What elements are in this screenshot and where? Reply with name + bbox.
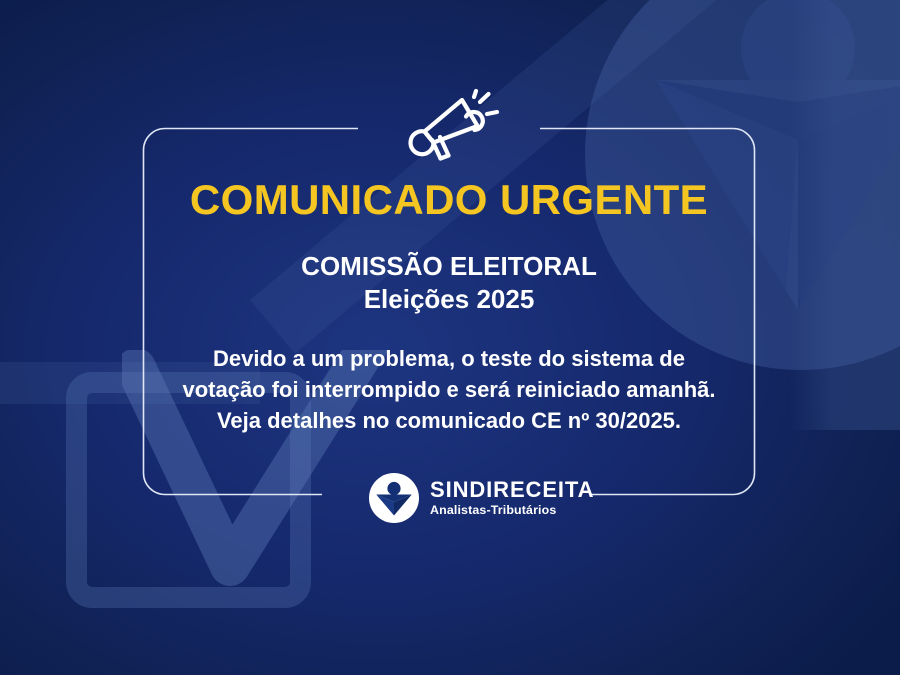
subtitle-line-2: Eleições 2025 bbox=[301, 283, 597, 316]
announcement-poster: COMUNICADO URGENTE COMISSÃO ELEITORAL El… bbox=[0, 0, 900, 675]
poster-content: COMUNICADO URGENTE COMISSÃO ELEITORAL El… bbox=[143, 128, 755, 495]
logo-name: SINDIRECEITA bbox=[430, 479, 594, 501]
sindireceita-figure-icon bbox=[369, 473, 419, 523]
subtitle-line-1: COMISSÃO ELEITORAL bbox=[301, 251, 597, 281]
logo-tagline: Analistas-Tributários bbox=[430, 504, 594, 516]
background-light-band bbox=[790, 0, 900, 430]
logo-wordmark: SINDIRECEITA Analistas-Tributários bbox=[430, 479, 594, 516]
subtitle-block: COMISSÃO ELEITORAL Eleições 2025 bbox=[301, 250, 597, 317]
page-title: COMUNICADO URGENTE bbox=[190, 178, 708, 222]
sindireceita-logo: SINDIRECEITA Analistas-Tributários bbox=[369, 473, 594, 523]
announcement-body-text: Devido a um problema, o teste do sistema… bbox=[179, 343, 719, 437]
